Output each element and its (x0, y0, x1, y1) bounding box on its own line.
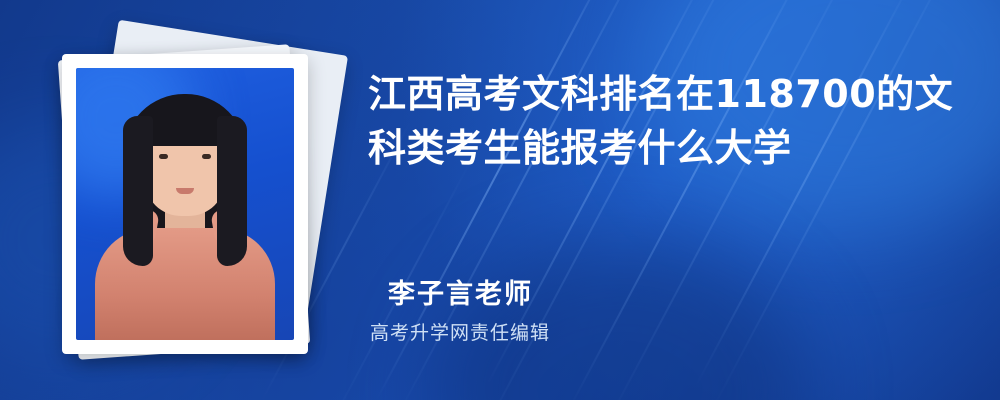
author-name: 李子言老师 (388, 272, 533, 311)
article-cover-banner: 江西高考文科排名在118700的文科类考生能报考什么大学 李子言老师 高考升学网… (0, 0, 1000, 400)
author-role: 高考升学网责任编辑 (370, 318, 550, 345)
hair-left (123, 116, 153, 266)
photo-card-front (62, 54, 308, 354)
eye-right (202, 154, 211, 159)
teacher-portrait-photo (76, 68, 294, 340)
photo-card-stack (48, 26, 348, 376)
portrait-illustration (76, 68, 294, 340)
banner-headline: 江西高考文科排名在118700的文科类考生能报考什么大学 (368, 68, 968, 176)
eye-left (159, 154, 168, 159)
banner-text-column: 江西高考文科排名在118700的文科类考生能报考什么大学 李子言老师 高考升学网… (368, 0, 1000, 400)
dress (95, 228, 275, 340)
hair-right (217, 116, 247, 266)
